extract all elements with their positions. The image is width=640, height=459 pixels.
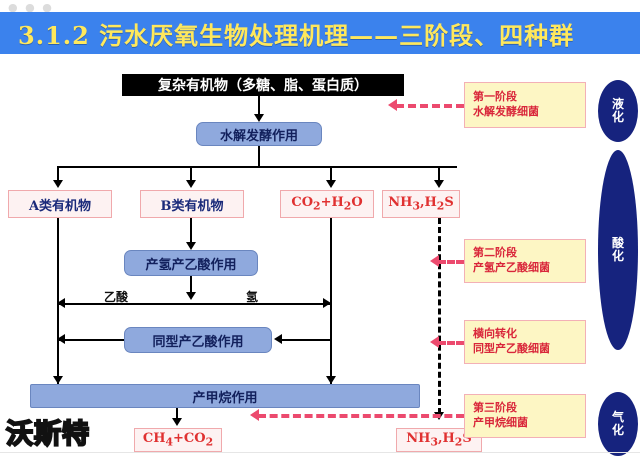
- node-hydrolysis-fermentation: 水解发酵作用: [196, 122, 322, 146]
- arrowhead-down-b: [186, 180, 196, 188]
- callout-arrow-4: [258, 414, 464, 418]
- edge-label-hydrogen: 氢: [246, 288, 258, 305]
- stage-marker-gasification: 气化: [598, 392, 638, 456]
- callout-arrowhead-2: [430, 255, 439, 267]
- connector-hydrolysis-trunk: [258, 146, 260, 166]
- formula-output-nh3-h2s: NH3,H2S: [406, 431, 471, 449]
- arrowhead-homoaceto-right: [274, 334, 282, 344]
- connector-products-bus: [57, 166, 457, 168]
- callout-arrowhead-3: [430, 336, 439, 348]
- annotation-stage-3-line2: 产甲烷细菌: [473, 416, 528, 431]
- slide-canvas: ● ● ● 3.1.2 污水厌氧生物处理机理——三阶段、四种群 复杂有机物（多糖…: [0, 0, 640, 459]
- node-complex-organics: 复杂有机物（多糖、脂、蛋白质）: [122, 74, 404, 96]
- annotation-stage-1-line1: 第一阶段: [473, 90, 517, 105]
- watermark: 沃斯特: [6, 412, 90, 451]
- annotation-stage-2-line1: 第二阶段: [473, 246, 517, 261]
- annotation-stage-2-line2: 产氢产乙酸细菌: [473, 261, 550, 276]
- arrowhead-left-acetate: [57, 298, 65, 308]
- arrowhead-down-a: [53, 180, 63, 188]
- annotation-lateral-line1: 横向转化: [473, 327, 517, 342]
- node-hydrogen-acetate-production: 产氢产乙酸作用: [124, 250, 258, 276]
- annotation-stage-3: 第三阶段 产甲烷细菌: [464, 394, 586, 438]
- callout-arrowhead-4: [250, 409, 259, 421]
- annotation-lateral-conversion: 横向转化 同型产乙酸细菌: [464, 320, 586, 364]
- arrowhead-b-to-acidogenesis: [186, 242, 196, 250]
- arrowhead-down-co2: [326, 180, 336, 188]
- annotation-stage-2: 第二阶段 产氢产乙酸细菌: [464, 239, 586, 283]
- slide-title-bar: 3.1.2 污水厌氧生物处理机理——三阶段、四种群: [0, 12, 640, 54]
- arrowhead-ch4-output: [172, 418, 182, 426]
- node-nh3-h2s: NH3,H2S: [382, 190, 460, 218]
- node-homoacetogenesis: 同型产乙酸作用: [124, 327, 272, 353]
- bus-acetate-hydrogen: [57, 303, 331, 305]
- arrowhead-down-nh3: [434, 180, 444, 188]
- annotation-stage-1: 第一阶段 水解发酵细菌: [464, 82, 586, 128]
- callout-arrow-2: [438, 260, 464, 264]
- callout-arrowhead-1: [388, 99, 397, 111]
- arrowhead-acidogenesis-bus: [186, 292, 196, 300]
- stage-marker-liquefaction: 液化: [598, 80, 638, 142]
- stage-marker-acidification: 酸化: [598, 150, 638, 350]
- bottom-divider: [0, 452, 640, 453]
- node-methanogenesis: 产甲烷作用: [30, 384, 420, 408]
- stage-marker-liquefaction-label: 液化: [612, 98, 624, 123]
- node-organic-class-b: B类有机物: [140, 190, 244, 218]
- callout-arrow-1: [396, 104, 464, 108]
- annotation-stage-3-line1: 第三阶段: [473, 401, 517, 416]
- arrowhead-right-hydrogen: [323, 298, 331, 308]
- annotation-lateral-line2: 同型产乙酸细菌: [473, 342, 550, 357]
- stage-marker-acidification-label: 酸化: [612, 237, 624, 262]
- arrowhead-homoaceto-left: [57, 334, 65, 344]
- node-organic-class-a: A类有机物: [8, 190, 112, 218]
- formula-nh3-h2s: NH3,H2S: [388, 195, 453, 213]
- formula-ch4-co2: CH4+CO2: [143, 431, 213, 449]
- callout-arrow-3: [438, 341, 464, 345]
- top-strip: [0, 0, 640, 12]
- arrowhead-co2-to-methanogenesis: [326, 376, 336, 384]
- node-output-ch4-co2: CH4+CO2: [134, 428, 222, 452]
- arrowhead-down-hydrolysis: [254, 114, 264, 122]
- connector-b-to-acidogenesis: [190, 218, 192, 244]
- connector-homoaceto-right: [282, 339, 331, 341]
- stage-marker-gasification-label: 气化: [612, 411, 624, 436]
- dashed-rail-nh3: [438, 218, 441, 414]
- annotation-stage-1-line2: 水解发酵细菌: [473, 105, 539, 120]
- connector-homoaceto-left: [57, 339, 124, 341]
- edge-label-acetate: 乙酸: [104, 288, 128, 305]
- page-title: 3.1.2 污水厌氧生物处理机理——三阶段、四种群: [0, 16, 574, 51]
- arrowhead-a-to-methanogenesis: [53, 376, 63, 384]
- formula-co2-h2o: CO2+H2O: [291, 195, 362, 213]
- node-co2-h2o: CO2+H2O: [280, 190, 374, 218]
- connector-substrate-hydrolysis: [258, 96, 260, 116]
